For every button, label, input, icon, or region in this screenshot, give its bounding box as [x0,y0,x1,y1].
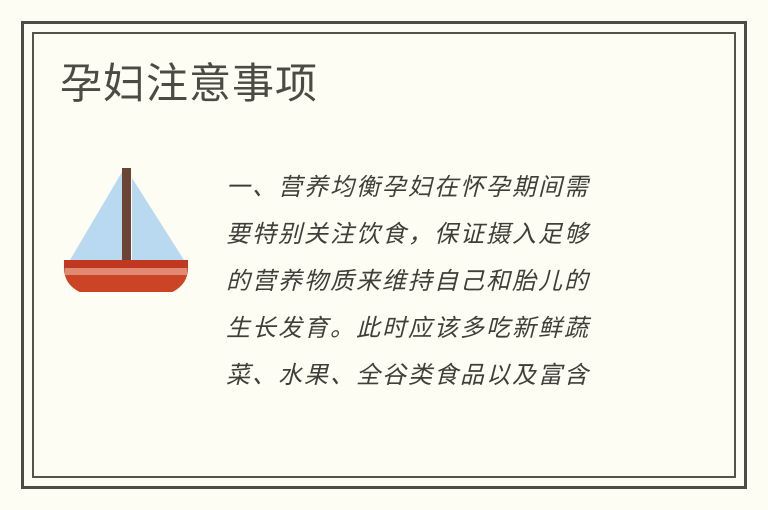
body-line: 要特别关注饮食，保证摄入足够 [226,211,708,258]
body-line: 生长发育。此时应该多吃新鲜蔬 [226,305,708,352]
article-card: 孕妇注意事项 一、营养均衡孕妇在怀孕期间需 要特别关注饮食，保证摄入足够 的营 [0,0,768,510]
content-row: 一、营养均衡孕妇在怀孕期间需 要特别关注饮食，保证摄入足够 的营养物质来维持自己… [60,150,708,399]
body-line: 的营养物质来维持自己和胎儿的 [226,258,708,305]
sailboat-icon [60,156,192,292]
body-line: 一、营养均衡孕妇在怀孕期间需 [226,164,708,211]
body-paragraph: 一、营养均衡孕妇在怀孕期间需 要特别关注饮食，保证摄入足够 的营养物质来维持自己… [210,150,708,399]
page-title: 孕妇注意事项 [60,58,318,110]
body-line: 菜、水果、全谷类食品以及富含 [226,352,708,399]
illustration-container [60,150,210,292]
